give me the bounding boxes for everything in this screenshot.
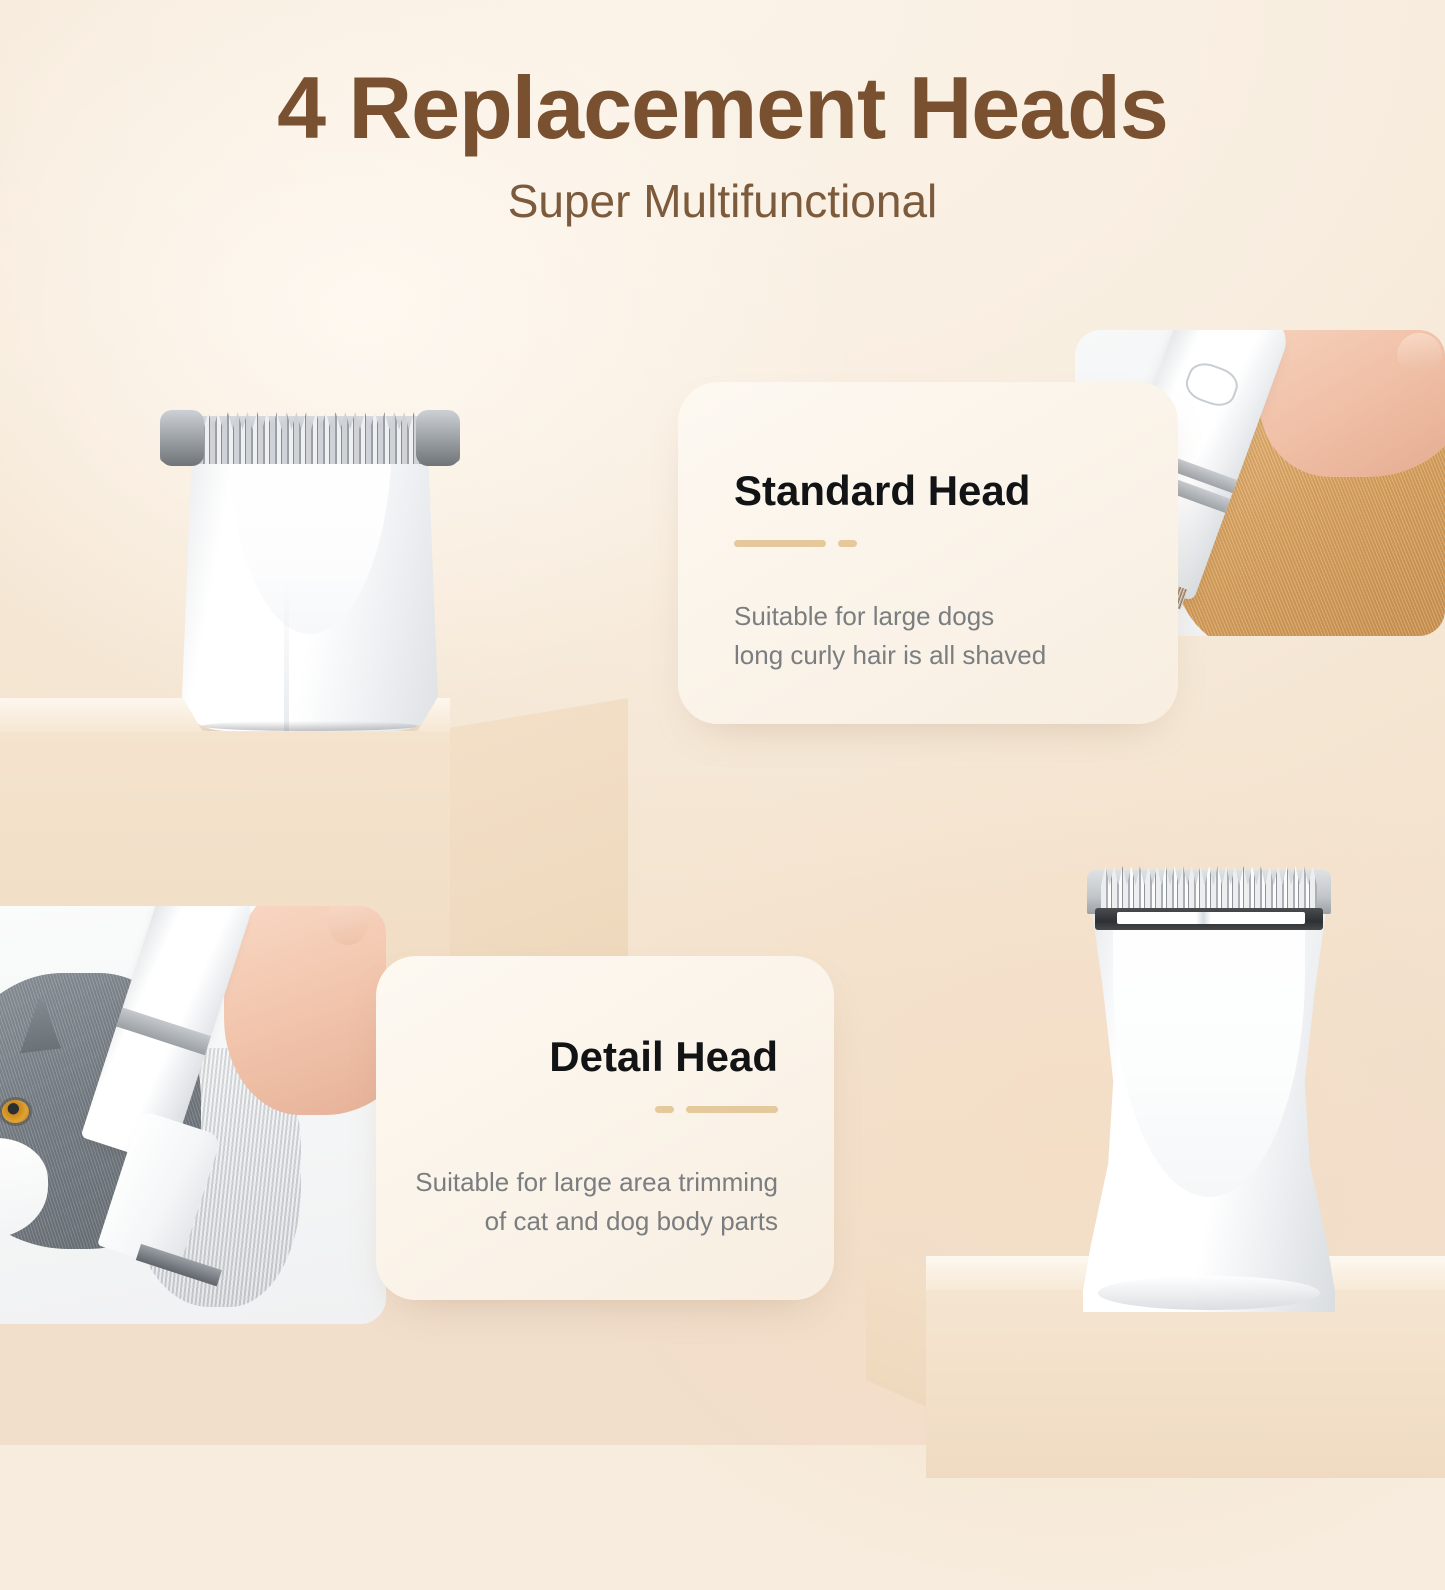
page-subtitle: Super Multifunctional xyxy=(0,176,1445,227)
clipper-base-shadow xyxy=(202,721,417,731)
power-button-icon xyxy=(1181,357,1242,410)
card-description-line: Suitable for large dogs xyxy=(734,597,1178,636)
human-hand xyxy=(1260,330,1445,477)
standard-head-product xyxy=(160,386,460,731)
card-description: Suitable for large dogs long curly hair … xyxy=(734,597,1178,675)
card-divider xyxy=(376,1106,778,1113)
card-title: Detail Head xyxy=(376,1034,778,1080)
cat-eye-right xyxy=(2,1100,29,1123)
cat-muzzle xyxy=(0,1138,48,1237)
divider-dash-short xyxy=(655,1106,674,1113)
cat-ear-right xyxy=(17,995,63,1056)
clipper-chrome-ring xyxy=(116,1007,210,1055)
card-divider xyxy=(734,540,1178,547)
thumb xyxy=(328,906,368,945)
divider-dash-long xyxy=(734,540,826,547)
cat-grooming-photo xyxy=(0,906,386,1324)
detail-head-card[interactable]: Detail Head Suitable for large area trim… xyxy=(376,956,834,1300)
page-title: 4 Replacement Heads xyxy=(0,62,1445,154)
human-hand xyxy=(224,906,386,1115)
clipper-blade-cap-left xyxy=(160,410,204,466)
card-description-line: Suitable for large area trimming xyxy=(376,1163,778,1202)
pedestal-right-front-face xyxy=(926,1288,1445,1478)
card-description: Suitable for large area trimming of cat … xyxy=(376,1163,778,1241)
divider-dash-short xyxy=(838,540,857,547)
card-description-line: long curly hair is all shaved xyxy=(734,636,1178,675)
detail-head-product xyxy=(1073,852,1345,1312)
detail-head-body xyxy=(1083,900,1335,1312)
card-description-line: of cat and dog body parts xyxy=(376,1202,778,1241)
detail-head-blade-insert xyxy=(1117,912,1305,924)
thumb xyxy=(1397,333,1443,371)
clipper-blade-cap-right xyxy=(416,410,460,466)
standard-head-card[interactable]: Standard Head Suitable for large dogs lo… xyxy=(678,382,1178,724)
card-title: Standard Head xyxy=(734,468,1178,514)
detail-head-base-shine xyxy=(1098,1276,1320,1310)
clipper-gloss-line xyxy=(284,583,289,731)
header: 4 Replacement Heads Super Multifunctiona… xyxy=(0,62,1445,227)
divider-dash-long xyxy=(686,1106,778,1113)
detail-head-cup-highlight xyxy=(1113,900,1305,1197)
clipper-cup-highlight xyxy=(228,446,392,634)
clipper-body xyxy=(182,446,438,731)
